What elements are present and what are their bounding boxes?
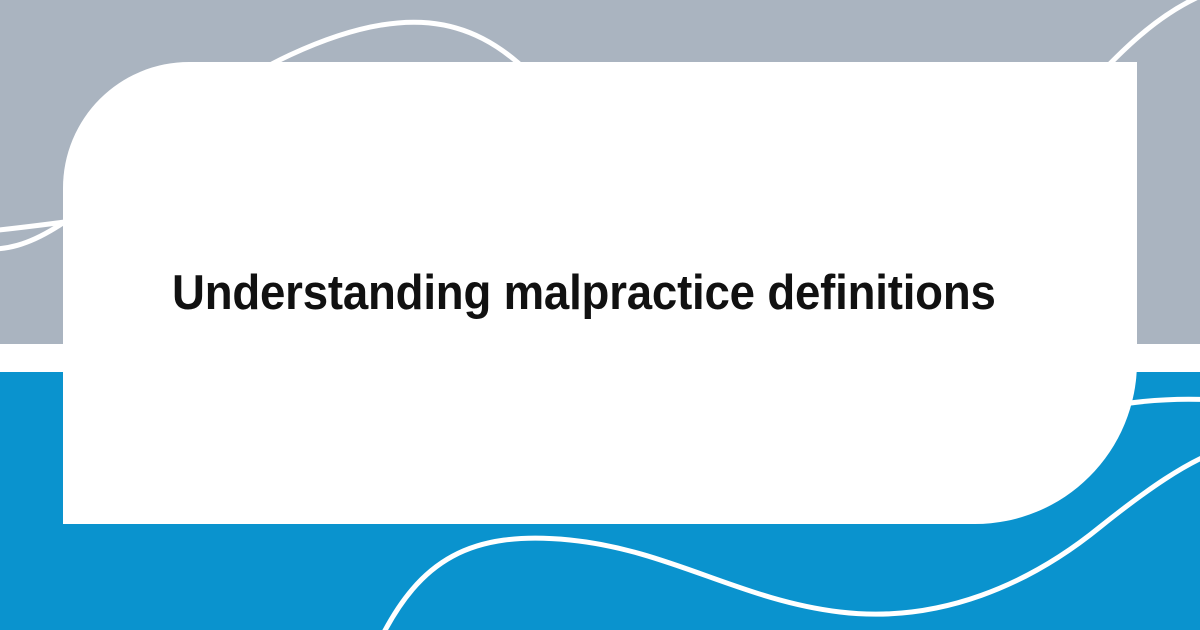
title-container: Understanding malpractice definitions [172,62,1072,524]
content-card: Understanding malpractice definitions [63,62,1137,524]
page-title: Understanding malpractice definitions [172,266,996,321]
promo-banner: Understanding malpractice definitions [0,0,1200,630]
